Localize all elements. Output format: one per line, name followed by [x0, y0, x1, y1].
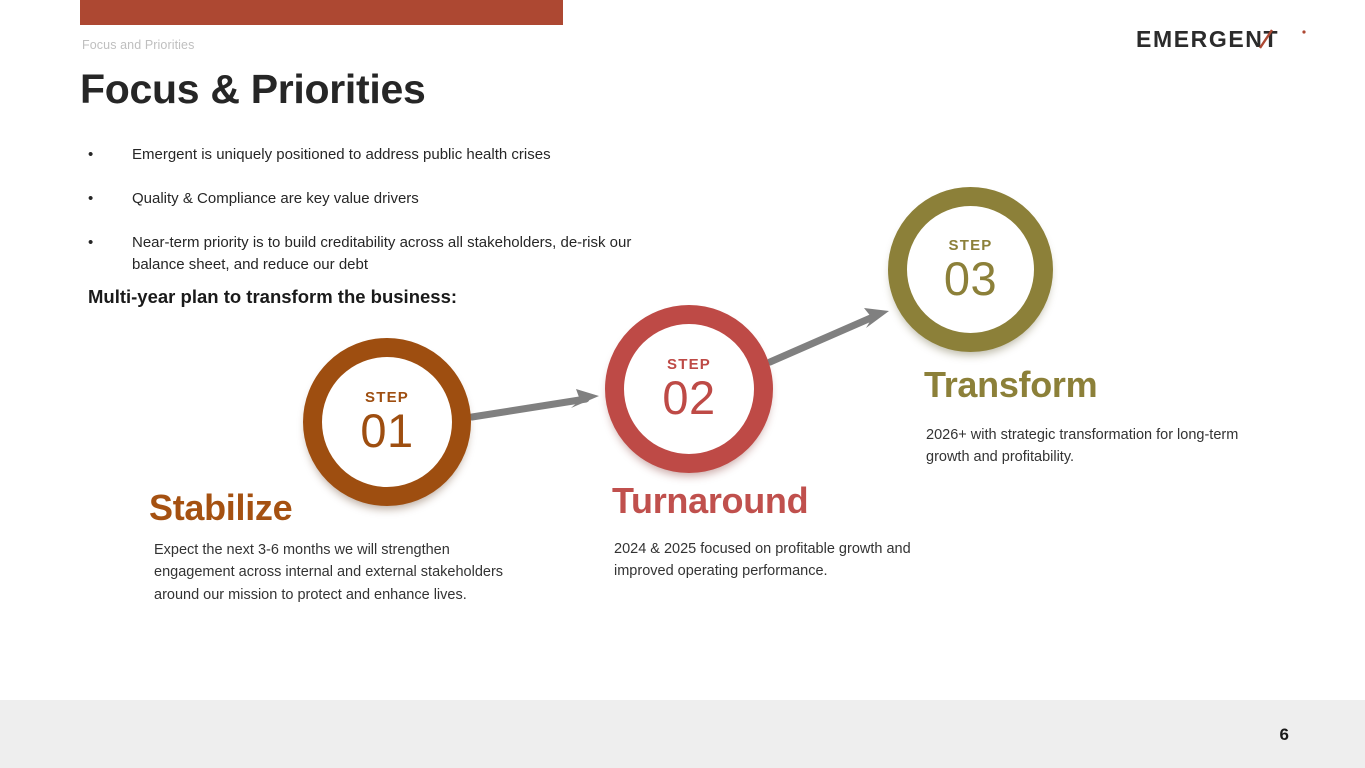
- footer-band: [0, 700, 1365, 768]
- subheading: Multi-year plan to transform the busines…: [88, 286, 457, 308]
- arrow-step2-to-step3-icon: [765, 300, 900, 372]
- list-item: • Near-term priority is to build credita…: [88, 232, 688, 276]
- breadcrumb: Focus and Priorities: [82, 38, 194, 52]
- page-number: 6: [1280, 725, 1289, 745]
- svg-text:EMERGENT: EMERGENT: [1136, 27, 1279, 52]
- step-number: 01: [360, 407, 413, 454]
- arrow-step1-to-step2-icon: [468, 386, 608, 428]
- page-title: Focus & Priorities: [80, 66, 425, 113]
- step-number: 02: [662, 374, 715, 421]
- step-circle-02: STEP 02: [605, 305, 773, 473]
- bullet-marker-icon: •: [88, 188, 132, 210]
- step-label: STEP: [365, 390, 409, 405]
- step-label: STEP: [667, 357, 711, 372]
- top-accent-bar: [80, 0, 563, 25]
- bullet-marker-icon: •: [88, 232, 132, 254]
- phase-body-transform: 2026+ with strategic transformation for …: [926, 424, 1281, 469]
- phase-body-stabilize: Expect the next 3-6 months we will stren…: [154, 539, 504, 606]
- bullet-text: Near-term priority is to build creditabi…: [132, 232, 688, 276]
- bullet-text: Emergent is uniquely positioned to addre…: [132, 144, 551, 166]
- step-number: 03: [944, 255, 997, 302]
- bullet-marker-icon: •: [88, 144, 132, 166]
- phase-heading-turnaround: Turnaround: [612, 483, 808, 519]
- phase-heading-stabilize: Stabilize: [149, 490, 292, 526]
- phase-heading-transform: Transform: [924, 367, 1097, 403]
- bullet-text: Quality & Compliance are key value drive…: [132, 188, 419, 210]
- emergent-logo-mark: EMERGENT: [1136, 27, 1308, 55]
- step-circle-01: STEP 01: [303, 338, 471, 506]
- list-item: • Emergent is uniquely positioned to add…: [88, 144, 688, 166]
- list-item: • Quality & Compliance are key value dri…: [88, 188, 688, 210]
- bullet-list: • Emergent is uniquely positioned to add…: [88, 144, 688, 298]
- emergent-logo: EMERGENT: [1136, 27, 1308, 55]
- phase-body-turnaround: 2024 & 2025 focused on profitable growth…: [614, 538, 959, 583]
- step-label: STEP: [949, 238, 993, 253]
- step-circle-03: STEP 03: [888, 187, 1053, 352]
